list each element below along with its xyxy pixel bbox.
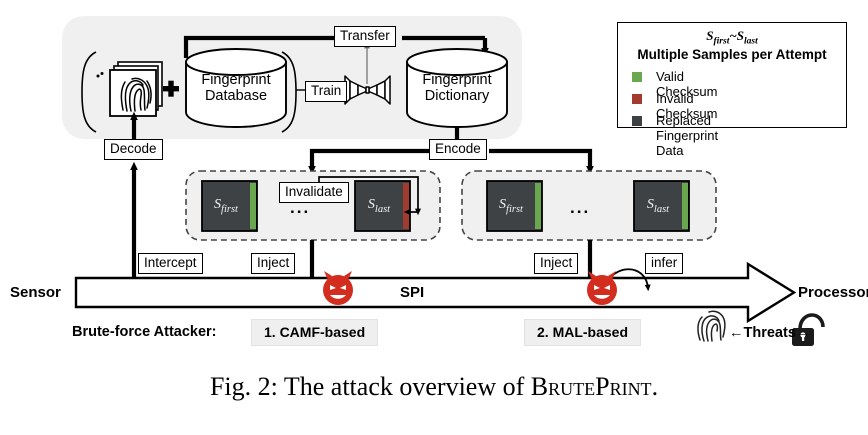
- figure-brute-print-overview: Fingerprint Database Fingerprint Diction…: [0, 0, 868, 435]
- inject-label-camf[interactable]: Inject: [251, 253, 295, 274]
- attacker-label: Brute-force Attacker:: [72, 325, 217, 340]
- attack-chip-camf[interactable]: 1. CAMF-based: [251, 319, 378, 346]
- mal-ellipsis: ...: [570, 199, 590, 216]
- threats-label: ←Threats→: [729, 326, 810, 341]
- transfer-label[interactable]: Transfer: [334, 26, 396, 47]
- invalidate-label[interactable]: Invalidate: [279, 182, 349, 203]
- caption-system-name: BrutePrint: [531, 372, 652, 401]
- inject-label-mal[interactable]: Inject: [534, 253, 578, 274]
- legend-swatch-replaced: [632, 116, 642, 126]
- spi-bus-label: SPI: [400, 285, 424, 300]
- legend-title: Multiple Samples per Attempt: [618, 47, 846, 62]
- legend: Sfirst~Slast Multiple Samples per Attemp…: [617, 22, 847, 128]
- legend-swatch-invalid: [632, 94, 642, 104]
- legend-sample-range: Sfirst~Slast: [618, 28, 846, 47]
- mal-sample-first-label: Sfirst: [487, 198, 535, 215]
- decode-label[interactable]: Decode: [104, 139, 163, 160]
- database-label: Fingerprint Database: [186, 72, 286, 104]
- infer-label[interactable]: infer: [645, 253, 683, 274]
- fingerprint-images-icon: [110, 62, 162, 116]
- dictionary-label: Fingerprint Dictionary: [407, 72, 507, 104]
- train-label[interactable]: Train: [305, 81, 347, 102]
- devil-icon-camf: [323, 271, 353, 305]
- camf-sample-first-label: Sfirst: [202, 198, 250, 215]
- processor-label: Processor: [798, 285, 868, 300]
- attack-chip-mal[interactable]: 2. MAL-based: [524, 319, 641, 346]
- fingerprint-icon: [698, 311, 725, 341]
- mal-sample-last-label: Slast: [634, 198, 682, 215]
- camf-sample-last-label: Slast: [355, 198, 403, 215]
- legend-label-replaced: Replaced Fingerprint Data: [656, 113, 718, 158]
- legend-swatch-valid: [632, 72, 642, 82]
- sensor-label: Sensor: [10, 285, 61, 300]
- encode-label[interactable]: Encode: [429, 139, 487, 160]
- devil-icon-mal: [587, 271, 617, 305]
- intercept-label[interactable]: Intercept: [138, 253, 203, 274]
- figure-caption: Fig. 2: The attack overview of BrutePrin…: [0, 372, 868, 402]
